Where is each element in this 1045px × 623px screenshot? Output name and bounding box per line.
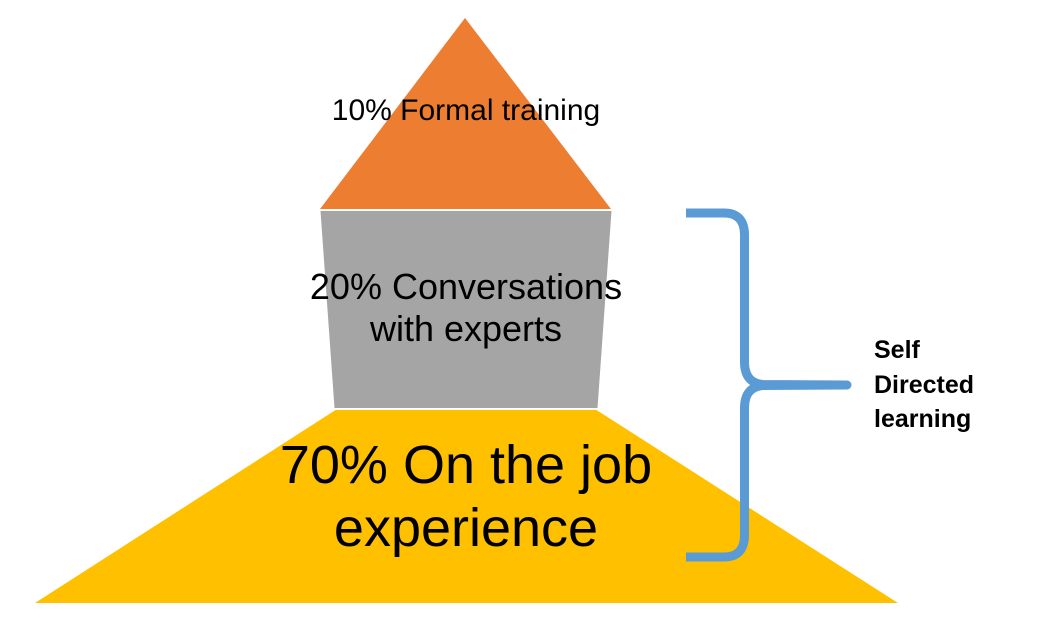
band-label-conversations-with-experts: 20% Conversations with experts (216, 266, 716, 350)
band-label-formal-training: 10% Formal training (216, 94, 716, 129)
annotation-label-self-directed-learning: Self Directed learning (874, 333, 1034, 437)
diagram-canvas: 10% Formal training 20% Conversations wi… (0, 0, 1045, 623)
band-label-on-the-job-experience: 70% On the job experience (196, 434, 736, 559)
